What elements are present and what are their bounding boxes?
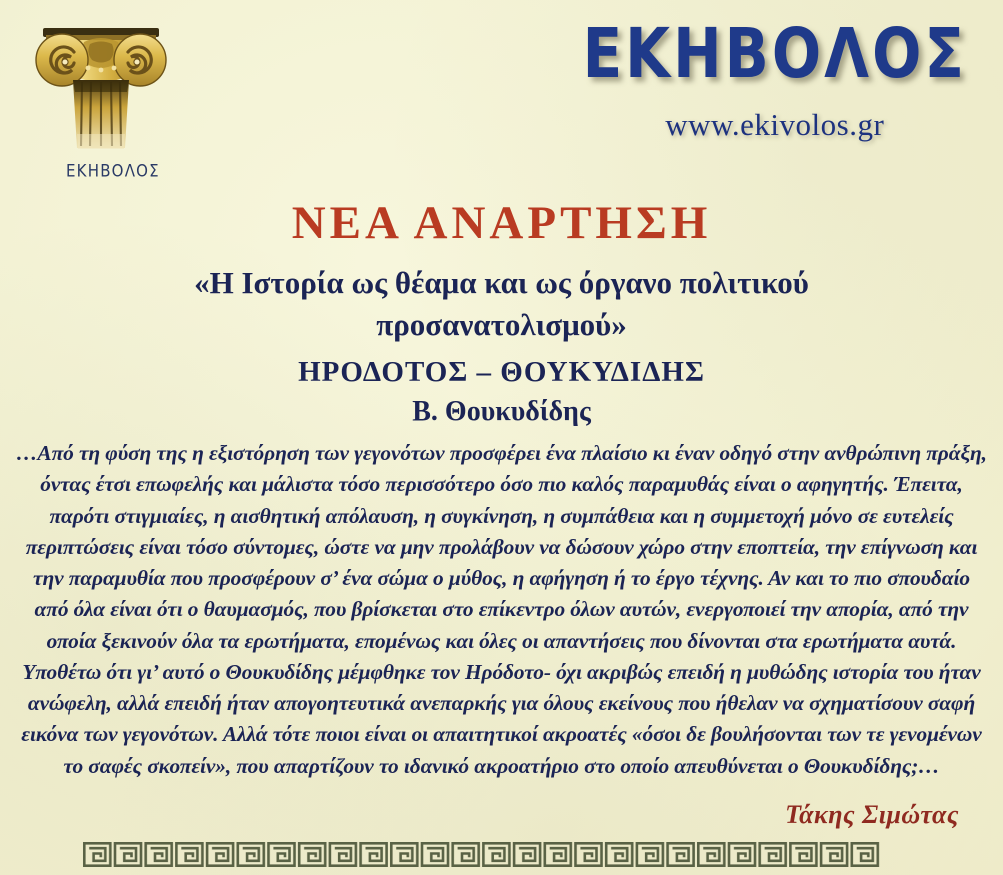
subject-line: ΗΡΟΔΟΤΟΣ – ΘΟΥΚΥΔΙΔΗΣ [0, 356, 1003, 389]
excerpt-body: …Από τη φύση της η εξιστόρηση των γεγονό… [16, 438, 987, 782]
ionic-column-capital-icon [26, 22, 176, 162]
logo-wordmark: ΕΚΗΒΟΛΟΣ [66, 161, 160, 181]
author-signature: Τάκης Σιμώτας [785, 800, 959, 830]
new-post-kicker: ΝΕΑ ΑΝΑΡΤΗΣΗ [0, 196, 1003, 250]
section-line: Β. Θουκυδίδης [0, 396, 1003, 428]
poster-canvas: ΕΚΗΒΟΛΟΣ ΕΚΗΒΟΛΟΣ www.ekivolos.gr ΝΕΑ ΑΝ… [0, 0, 1003, 875]
brand-title: ΕΚΗΒΟΛΟΣ [583, 18, 967, 90]
site-url[interactable]: www.ekivolos.gr [583, 107, 967, 143]
site-logo[interactable]: ΕΚΗΒΟΛΟΣ [18, 22, 198, 197]
masthead: ΕΚΗΒΟΛΟΣ www.ekivolos.gr [583, 18, 967, 143]
greek-key-meander-border [82, 841, 880, 868]
page-title: «Η Ιστορία ως θέαμα και ως όργανο πολιτι… [80, 262, 923, 345]
